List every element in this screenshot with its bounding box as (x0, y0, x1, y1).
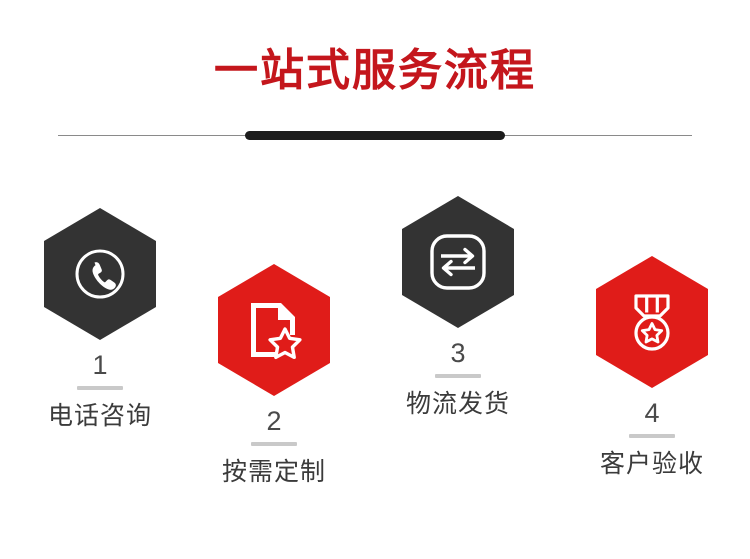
divider-accent-bar (245, 131, 505, 140)
step-3-number-rule (435, 374, 481, 378)
step-1-number-rule (77, 386, 123, 390)
step-4-label: 客户验收 (562, 449, 742, 479)
page-title: 一站式服务流程 (0, 44, 750, 98)
step-2-hexagon (218, 264, 330, 396)
service-process-infographic: 一站式服务流程 1 电话咨询 (0, 0, 750, 559)
document-star-icon (245, 299, 303, 361)
section-divider (58, 131, 692, 141)
process-step-3[interactable]: 3 物流发货 (368, 196, 548, 419)
process-step-1[interactable]: 1 电话咨询 (10, 208, 190, 431)
step-2-label: 按需定制 (184, 457, 364, 487)
step-2-number-rule (251, 442, 297, 446)
step-3-label: 物流发货 (368, 389, 548, 419)
medal-star-icon (622, 290, 682, 354)
process-step-2[interactable]: 2 按需定制 (184, 264, 364, 487)
step-2-hexagon-wrap (184, 264, 364, 398)
phone-circle-icon (70, 244, 130, 304)
process-step-4[interactable]: 4 客户验收 (562, 256, 742, 479)
step-3-hexagon-wrap (368, 196, 548, 330)
step-1-number: 1 (10, 349, 190, 381)
exchange-arrows-icon (427, 231, 489, 293)
step-2-number: 2 (184, 405, 364, 437)
step-4-number: 4 (562, 397, 742, 429)
step-4-hexagon-wrap (562, 256, 742, 390)
step-1-hexagon (44, 208, 156, 340)
step-1-hexagon-wrap (10, 208, 190, 342)
step-3-hexagon (402, 196, 514, 328)
step-1-label: 电话咨询 (10, 401, 190, 431)
step-4-number-rule (629, 434, 675, 438)
step-3-number: 3 (368, 337, 548, 369)
step-4-hexagon (596, 256, 708, 388)
